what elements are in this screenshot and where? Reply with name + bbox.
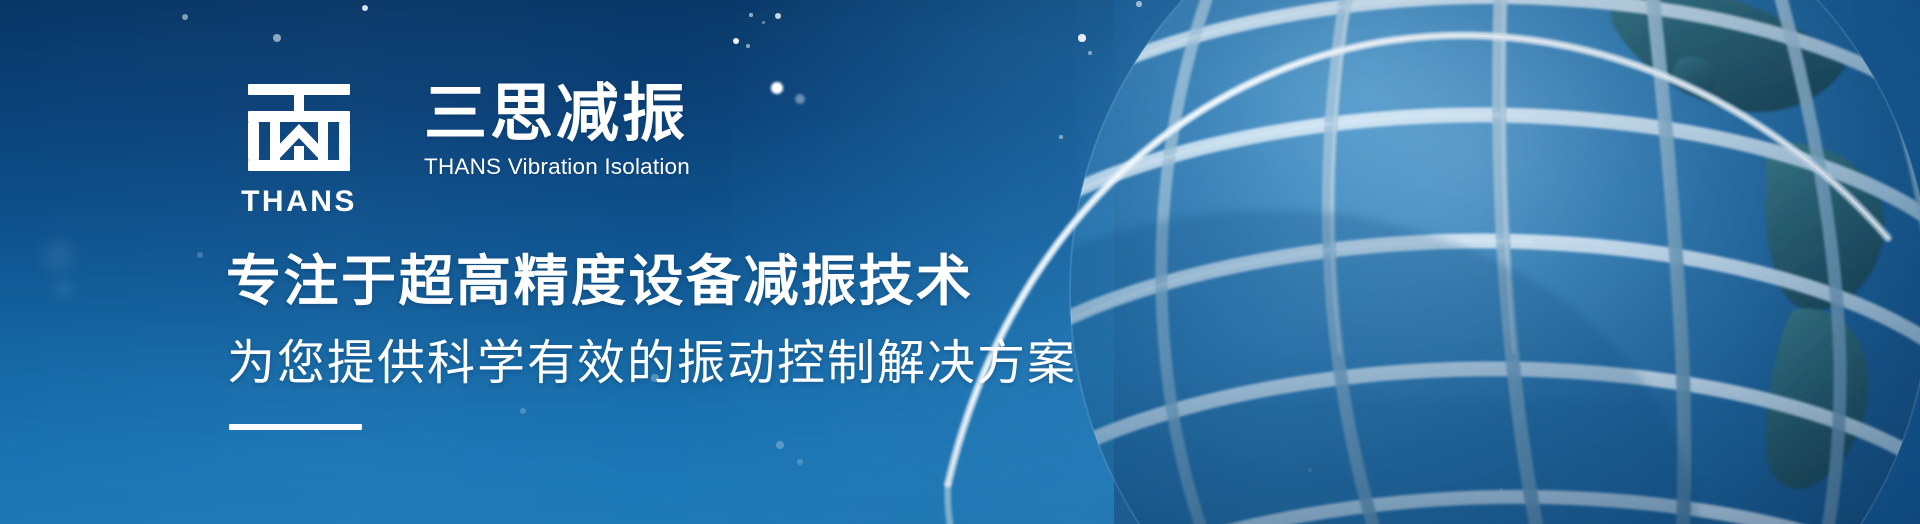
brand-wordmark: THANS <box>241 187 357 217</box>
hero-subheadline: 为您提供科学有效的振动控制解决方案 <box>227 340 1077 388</box>
brand-names: 三思减振 THANS Vibration Isolation <box>424 78 690 179</box>
banner-content: THANS 三思减振 THANS Vibration Isolation 专注于… <box>224 0 1224 524</box>
brand-name-cn: 三思减振 <box>424 82 690 146</box>
hero-banner: THANS 三思减振 THANS Vibration Isolation 专注于… <box>0 0 1920 524</box>
brand-name-en: THANS Vibration Isolation <box>424 156 690 179</box>
thans-monogram-icon <box>240 78 358 178</box>
brand-lockup: THANS 三思减振 THANS Vibration Isolation <box>224 78 690 217</box>
hero-divider-rule <box>229 424 362 430</box>
logo-block: THANS <box>224 78 374 217</box>
hero-headline: 专注于超高精度设备减振技术 <box>226 254 974 309</box>
